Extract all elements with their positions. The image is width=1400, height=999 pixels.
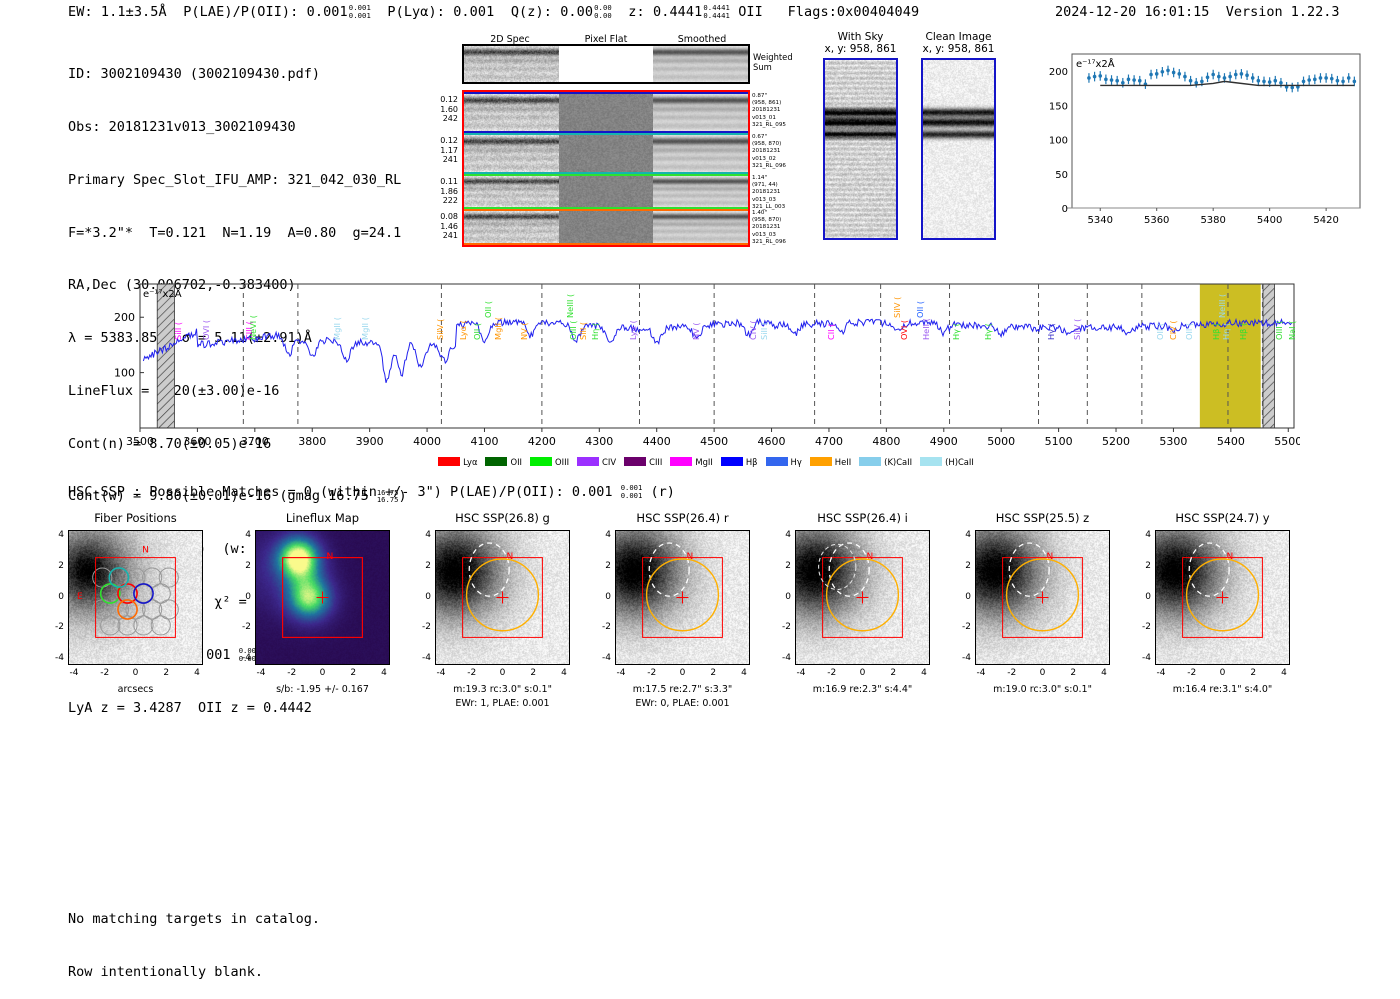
hsc-panel-row: Fiber PositionsNE420-2-4-4-2024arcsecsLi… [0, 0, 1400, 760]
hsc-axis-tick-y: -2 [413, 622, 431, 632]
hsc-panel-image: N [975, 530, 1110, 665]
hsc-axis-tick-y: 2 [593, 561, 611, 571]
hsc-panel-title: HSC SSP(26.4) i [775, 511, 950, 525]
hsc-axis-tick-x: 4 [1274, 668, 1294, 678]
hsc-axis-tick-y: -2 [233, 622, 251, 632]
hsc-axis-tick-y: 2 [1133, 561, 1151, 571]
footer-line-2: Row intentionally blank. [68, 964, 320, 982]
hsc-axis-tick-y: 0 [953, 592, 971, 602]
hsc-axis-tick-x: 0 [313, 668, 333, 678]
hsc-panel-caption-1: arcsecs [40, 684, 231, 696]
hsc-axis-tick-y: 2 [233, 561, 251, 571]
hsc-axis-tick-y: 2 [953, 561, 971, 571]
svg-text:E: E [77, 592, 83, 602]
hsc-panel-image: N [615, 530, 750, 665]
hsc-axis-tick-x: -2 [282, 668, 302, 678]
hsc-panel-caption-1: m:16.9 re:2.3" s:4.4" [767, 684, 958, 696]
hsc-panel-image: NN [255, 530, 390, 665]
hsc-panel-image: N [435, 530, 570, 665]
hsc-axis-tick-y: -4 [593, 653, 611, 663]
hsc-panel-overlay: NE [69, 531, 202, 664]
hsc-axis-tick-x: 0 [1213, 668, 1233, 678]
hsc-axis-tick-y: -2 [773, 622, 791, 632]
hsc-panel-title: HSC SSP(25.5) z [955, 511, 1130, 525]
hsc-axis-tick-y: -2 [1133, 622, 1151, 632]
hsc-axis-tick-y: -2 [46, 622, 64, 632]
hsc-axis-tick-x: 4 [1094, 668, 1114, 678]
hsc-axis-tick-x: 0 [673, 668, 693, 678]
hsc-axis-tick-x: -4 [791, 668, 811, 678]
hsc-panel-overlay: N [1156, 531, 1289, 664]
hsc-axis-tick-y: 0 [773, 592, 791, 602]
hsc-axis-tick-y: 0 [46, 592, 64, 602]
hsc-axis-tick-x: 0 [126, 668, 146, 678]
hsc-axis-tick-x: 4 [914, 668, 934, 678]
hsc-axis-tick-x: -2 [822, 668, 842, 678]
hsc-panel-caption-1: m:19.3 rc:3.0" s:0.1" [407, 684, 598, 696]
hsc-axis-tick-x: 0 [1033, 668, 1053, 678]
footer-line-1: No matching targets in catalog. [68, 911, 320, 929]
hsc-panel-caption-1: s/b: -1.95 +/- 0.167 [227, 684, 418, 696]
hsc-panel-image: N [795, 530, 930, 665]
hsc-axis-tick-y: 4 [233, 530, 251, 540]
hsc-axis-tick-y: -4 [46, 653, 64, 663]
hsc-axis-tick-x: -4 [431, 668, 451, 678]
hsc-axis-tick-y: 4 [593, 530, 611, 540]
hsc-axis-tick-x: 2 [523, 668, 543, 678]
hsc-axis-tick-x: 0 [853, 668, 873, 678]
hsc-axis-tick-y: 4 [46, 530, 64, 540]
hsc-panel-overlay: N [976, 531, 1109, 664]
hsc-axis-tick-x: -4 [1151, 668, 1171, 678]
hsc-axis-tick-x: -2 [1182, 668, 1202, 678]
hsc-panel-overlay: NN [256, 531, 389, 664]
hsc-panel-title: HSC SSP(24.7) y [1135, 511, 1310, 525]
hsc-panel-overlay: N [436, 531, 569, 664]
hsc-panel-title: Fiber Positions [48, 511, 223, 525]
svg-text:N: N [326, 552, 333, 562]
hsc-axis-tick-y: 0 [1133, 592, 1151, 602]
hsc-panel-image: N [1155, 530, 1290, 665]
hsc-axis-tick-x: -4 [64, 668, 84, 678]
hsc-axis-tick-x: -2 [95, 668, 115, 678]
hsc-panel-title: HSC SSP(26.8) g [415, 511, 590, 525]
hsc-axis-tick-x: -2 [462, 668, 482, 678]
hsc-panel-caption-1: m:17.5 re:2.7" s:3.3" [587, 684, 778, 696]
hsc-panel-overlay: N [616, 531, 749, 664]
hsc-axis-tick-y: 4 [1133, 530, 1151, 540]
hsc-panel-image: NE [68, 530, 203, 665]
hsc-axis-tick-y: 0 [593, 592, 611, 602]
hsc-axis-tick-x: 2 [1063, 668, 1083, 678]
hsc-panel-overlay: N [796, 531, 929, 664]
hsc-axis-tick-y: 2 [413, 561, 431, 571]
hsc-axis-tick-x: 2 [883, 668, 903, 678]
hsc-axis-tick-y: -4 [413, 653, 431, 663]
hsc-axis-tick-x: 2 [703, 668, 723, 678]
hsc-axis-tick-y: -2 [953, 622, 971, 632]
hsc-axis-tick-y: -4 [953, 653, 971, 663]
hsc-panel-caption-1: m:16.4 re:3.1" s:4.0" [1127, 684, 1318, 696]
hsc-panel-caption-2: EWr: 0, PLAE: 0.001 [587, 698, 778, 710]
hsc-panel-caption-1: m:19.0 rc:3.0" s:0.1" [947, 684, 1138, 696]
hsc-axis-tick-y: 2 [773, 561, 791, 571]
hsc-axis-tick-y: -4 [773, 653, 791, 663]
hsc-axis-tick-x: 4 [374, 668, 394, 678]
hsc-panel-caption-2: EWr: 1, PLAE: 0.001 [407, 698, 598, 710]
hsc-axis-tick-x: 2 [343, 668, 363, 678]
hsc-axis-tick-y: -4 [233, 653, 251, 663]
hsc-axis-tick-y: 0 [413, 592, 431, 602]
hsc-panel-title: Lineflux Map [235, 511, 410, 525]
hsc-axis-tick-y: 4 [773, 530, 791, 540]
hsc-axis-tick-y: 0 [233, 592, 251, 602]
hsc-axis-tick-x: 0 [493, 668, 513, 678]
hsc-axis-tick-x: -4 [611, 668, 631, 678]
hsc-axis-tick-y: -4 [1133, 653, 1151, 663]
hsc-axis-tick-y: 2 [46, 561, 64, 571]
hsc-axis-tick-y: 4 [413, 530, 431, 540]
hsc-axis-tick-y: 4 [953, 530, 971, 540]
hsc-axis-tick-x: -2 [642, 668, 662, 678]
hsc-axis-tick-x: -2 [1002, 668, 1022, 678]
footer-note: No matching targets in catalog. Row inte… [68, 876, 320, 999]
hsc-axis-tick-x: 4 [187, 668, 207, 678]
hsc-axis-tick-x: 2 [156, 668, 176, 678]
hsc-axis-tick-x: 4 [554, 668, 574, 678]
hsc-panel-title: HSC SSP(26.4) r [595, 511, 770, 525]
hsc-axis-tick-x: -4 [971, 668, 991, 678]
hsc-axis-tick-x: -4 [251, 668, 271, 678]
hsc-axis-tick-y: -2 [593, 622, 611, 632]
hsc-axis-tick-x: 2 [1243, 668, 1263, 678]
hsc-axis-tick-x: 4 [734, 668, 754, 678]
svg-text:N: N [142, 545, 149, 555]
